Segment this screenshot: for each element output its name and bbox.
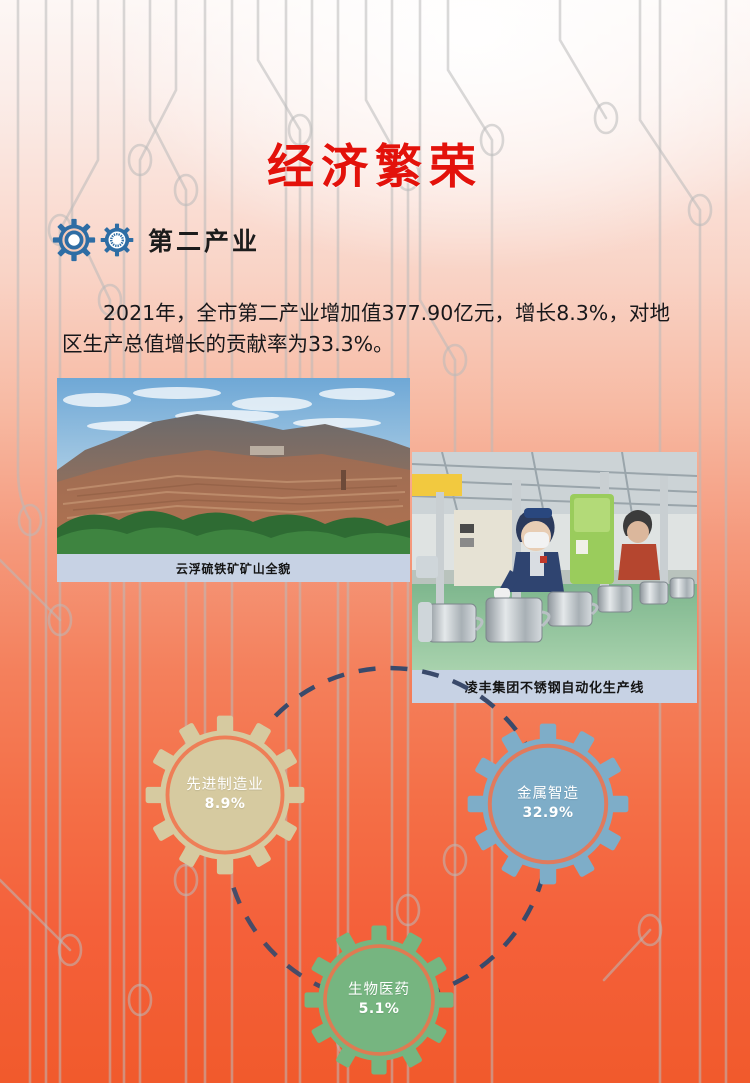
photo-card-production-line: 凌丰集团不锈钢自动化生产线 xyxy=(412,452,697,703)
gear-badge-metal-smart-manufacturing[interactable]: 金属智造 32.9% xyxy=(466,722,630,886)
gear-badge-advanced-manufacturing[interactable]: 先进制造业 8.9% xyxy=(144,714,306,876)
photo-card-mine: 云浮硫铁矿矿山全貌 xyxy=(57,378,410,582)
gear-icon xyxy=(100,223,134,257)
gear-value: 8.9% xyxy=(205,796,246,814)
gear-label: 金属智造 xyxy=(517,785,579,803)
photo-caption: 云浮硫铁矿矿山全貌 xyxy=(57,554,410,582)
page-title: 经济繁荣 xyxy=(0,128,750,197)
production-line-image xyxy=(412,452,697,670)
section-heading-label: 第二产业 xyxy=(148,222,260,258)
body-paragraph: 2021年，全市第二产业增加值377.90亿元，增长8.3%，对地区生产总值增长… xyxy=(62,298,670,360)
photo-caption: 凌丰集团不锈钢自动化生产线 xyxy=(412,670,697,703)
gear-badge-biomedicine[interactable]: 生物医药 5.1% xyxy=(303,924,455,1076)
section-heading: 第二产业 xyxy=(52,218,260,262)
infographic-page: 经济繁荣 xyxy=(0,0,750,1083)
mine-panorama-image xyxy=(57,378,410,554)
gear-label: 先进制造业 xyxy=(186,776,264,794)
gear-value: 32.9% xyxy=(522,805,573,823)
gear-value: 5.1% xyxy=(359,1001,400,1019)
gear-label: 生物医药 xyxy=(348,981,410,999)
gear-icon xyxy=(52,218,96,262)
